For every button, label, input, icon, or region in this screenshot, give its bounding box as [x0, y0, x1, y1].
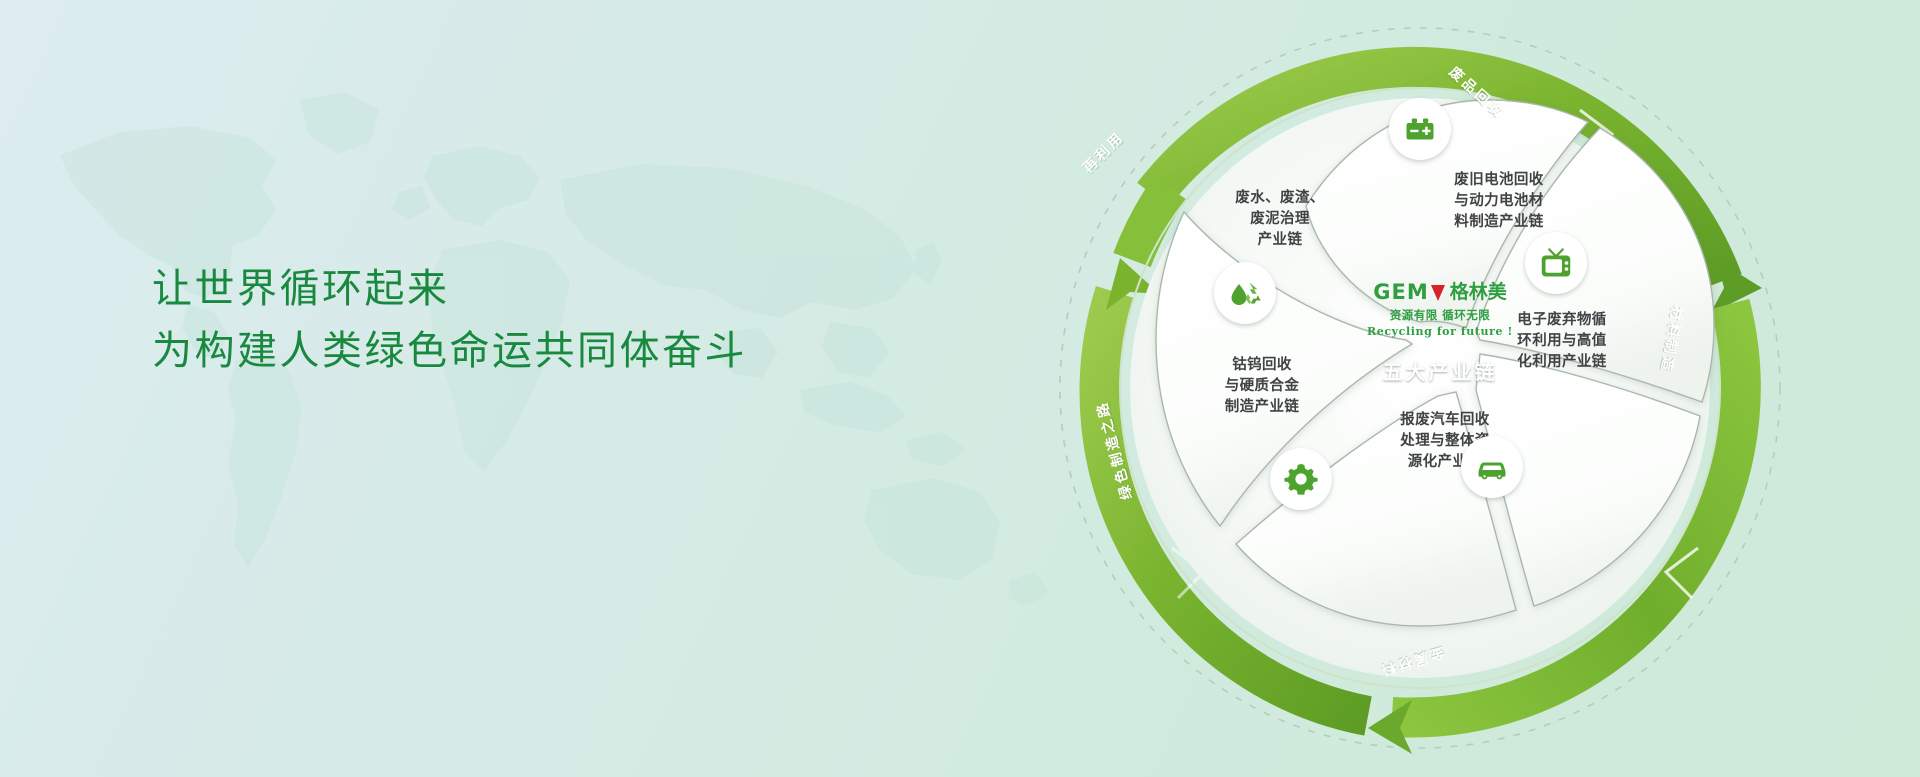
hero-headline: 让世界循环起来 为构建人类绿色命运共同体奋斗: [152, 258, 747, 382]
headline-line-1: 让世界循环起来: [152, 258, 747, 320]
battery-icon[interactable]: [1389, 98, 1451, 160]
headline-line-2: 为构建人类绿色命运共同体奋斗: [152, 320, 747, 382]
tv-icon[interactable]: [1525, 232, 1587, 294]
recycle-drop-icon[interactable]: [1214, 262, 1276, 324]
gear-icon[interactable]: [1270, 448, 1332, 510]
hero-banner: 让世界循环起来 为构建人类绿色命运共同体奋斗: [0, 0, 1920, 777]
car-icon[interactable]: [1461, 436, 1523, 498]
